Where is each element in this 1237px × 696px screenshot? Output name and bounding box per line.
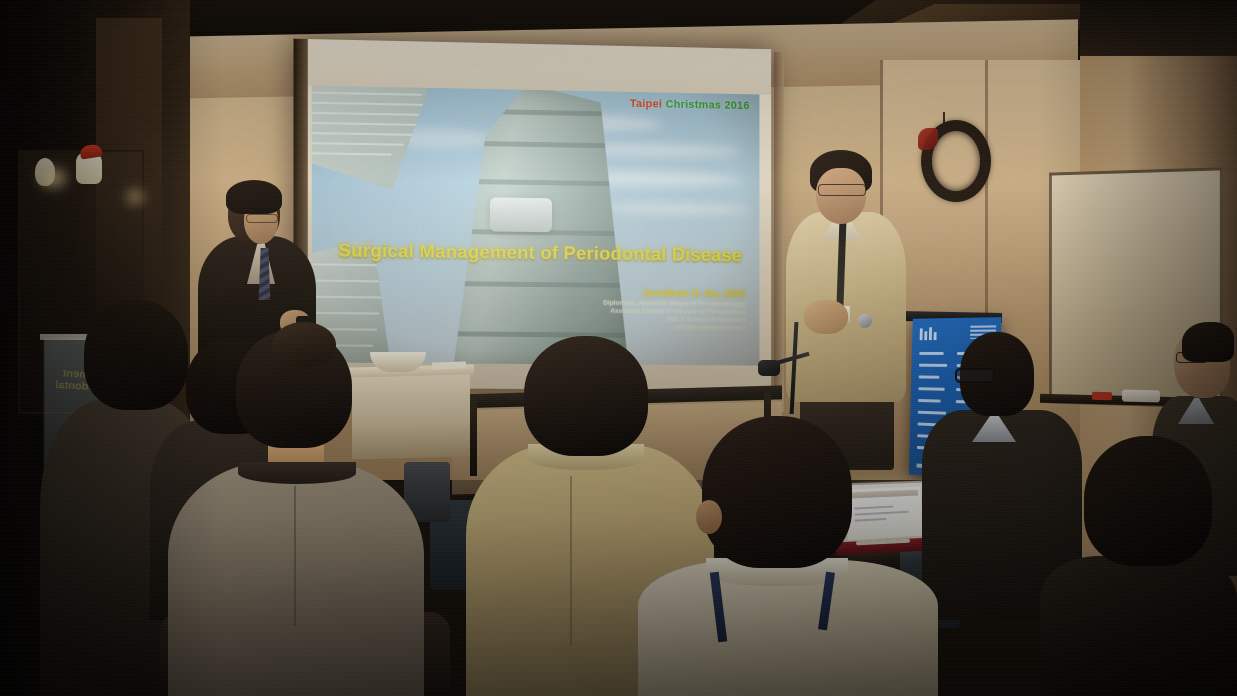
attendee-body	[1040, 556, 1237, 696]
slide-title: Surgical Management of Periodontal Disea…	[338, 239, 757, 266]
light-glint	[40, 168, 66, 188]
glasses-icon	[818, 184, 866, 196]
presenter-sweater-hands	[804, 300, 848, 334]
microphone-icon	[758, 360, 780, 376]
slide-byline: Jonathan H. Do, DDS Diplomate, American …	[603, 287, 745, 333]
attendee-khaki-fold	[570, 476, 572, 646]
attendee-lanyard-head	[702, 416, 852, 568]
attendee-lanyard-ear	[696, 500, 722, 534]
glasses-icon	[246, 214, 278, 223]
presenter-sweater-face	[816, 168, 866, 224]
attendee-updo-collar	[238, 462, 356, 484]
wreath-bow	[918, 128, 938, 150]
cloud-wisp	[604, 203, 752, 215]
attendee-head	[84, 300, 188, 410]
wristwatch	[858, 314, 872, 328]
laptop-screen	[845, 487, 922, 541]
attendee-khaki-head	[524, 336, 648, 456]
glasses-icon	[955, 368, 995, 383]
light-glint	[126, 190, 144, 204]
hair-bun	[272, 322, 336, 368]
presenter-suit-hair	[226, 180, 282, 214]
papers-on-podium	[432, 361, 466, 369]
presentation-slide: Taipei Christmas 2016 Surgical Managemen…	[312, 86, 760, 366]
glasses-icon	[1176, 352, 1208, 363]
tower-observation-deck	[490, 197, 552, 232]
slide-header: Taipei Christmas 2016	[630, 98, 750, 112]
laptop-toolbar	[848, 490, 918, 499]
attendee-updo-seam	[294, 486, 296, 626]
whiteboard-marker	[1092, 392, 1112, 401]
attendee-updo-top	[168, 462, 424, 696]
podium	[352, 370, 470, 459]
banner-logo-icon	[920, 326, 941, 340]
projection-screen: Taipei Christmas 2016 Surgical Managemen…	[294, 39, 772, 391]
table-leg	[470, 398, 477, 476]
whiteboard-eraser	[1122, 390, 1160, 403]
photo-scene: Surgical Management of Periodontal Disea…	[0, 0, 1237, 696]
attendee-head	[1084, 436, 1212, 566]
right-wall-shadow	[1080, 0, 1237, 56]
slide-header-occasion: Christmas 2016	[666, 99, 750, 113]
slide-header-city: Taipei	[630, 98, 662, 111]
presenter-email: jdo@dentistry.ucla.edu	[603, 324, 745, 333]
